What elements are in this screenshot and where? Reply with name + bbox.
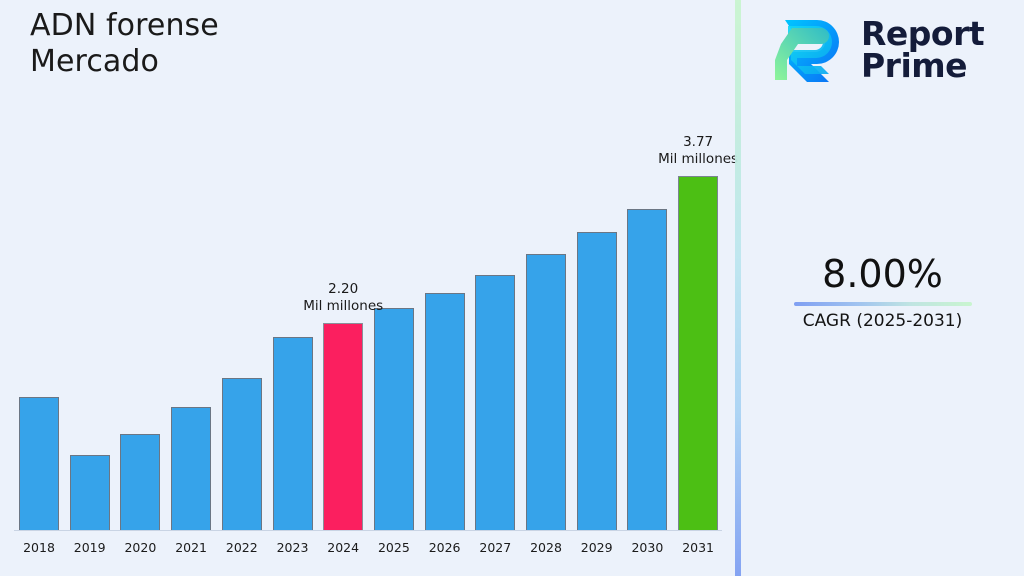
bar-2027 [475, 275, 515, 530]
bar-chart-plot: 2.20 Mil millones3.77 Mil millones 20182… [0, 0, 736, 576]
cagr-caption: CAGR (2025-2031) [741, 310, 1024, 332]
x-tick-2031: 2031 [668, 540, 728, 555]
bar-2031 [678, 176, 718, 530]
bar-2023 [273, 337, 313, 530]
cagr-block: 8.00% CAGR (2025-2031) [741, 252, 1024, 332]
bar-2019 [70, 455, 110, 530]
bar-2028 [526, 254, 566, 530]
bar-2021 [171, 407, 211, 530]
bar-2024 [323, 323, 363, 530]
brand-name: Report Prime [861, 18, 984, 82]
bar-2030 [627, 209, 667, 530]
bar-2025 [374, 308, 414, 530]
value-label-2024: 2.20 Mil millones [273, 281, 413, 315]
cagr-value: 8.00% [741, 252, 1024, 296]
report-prime-logo-icon [771, 14, 849, 86]
bar-2018 [19, 397, 59, 530]
brand-logo: Report Prime [771, 14, 984, 86]
bar-2029 [577, 232, 617, 530]
brand-panel: Report Prime 8.00% CAGR (2025-2031) [741, 0, 1024, 576]
bar-2026 [425, 293, 465, 530]
x-axis-line [14, 530, 722, 531]
bar-2022 [222, 378, 262, 530]
chart-panel: ADN forense Mercado 2.20 Mil millones3.7… [0, 0, 736, 576]
infographic-root: ADN forense Mercado 2.20 Mil millones3.7… [0, 0, 1024, 576]
bar-2020 [120, 434, 160, 530]
cagr-divider [794, 302, 972, 306]
